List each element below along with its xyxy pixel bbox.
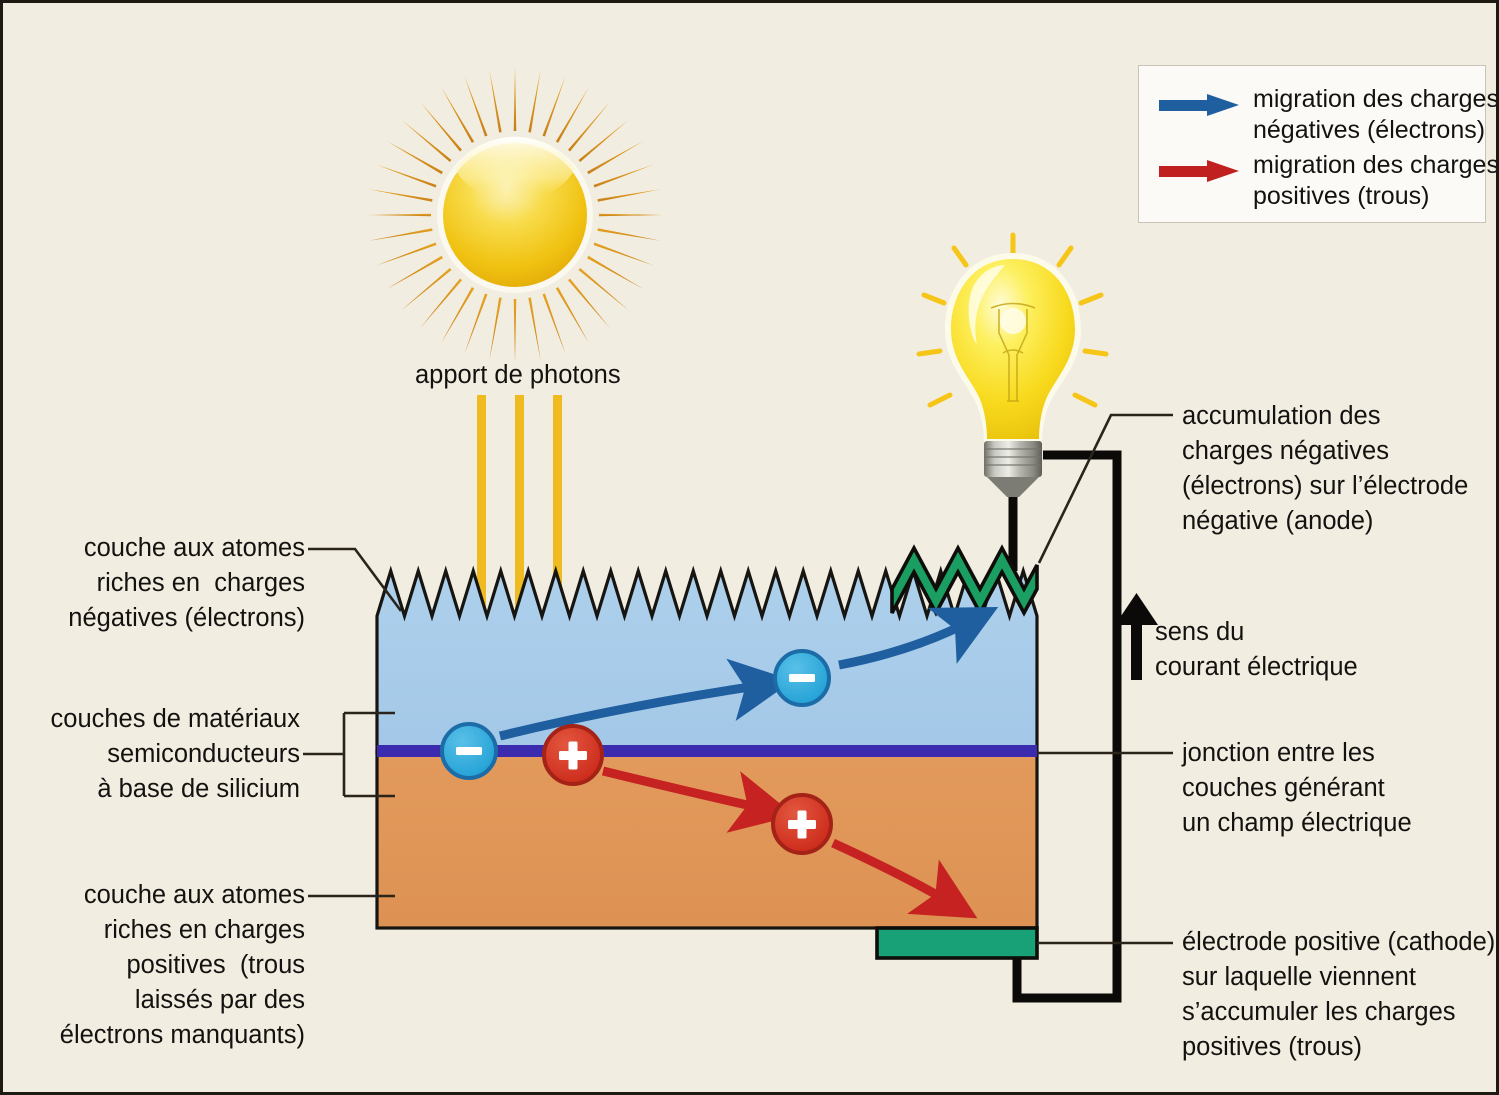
electron-2 xyxy=(775,651,829,705)
junction-label: jonction entre les couches générant un c… xyxy=(1182,736,1482,841)
solar-cell-diagram: migration des charges négatives (électro… xyxy=(0,0,1499,1095)
cathode-electrode xyxy=(877,928,1037,958)
hole-2 xyxy=(773,795,831,853)
electron-1 xyxy=(442,724,496,778)
legend-item-label: migration des charges positives (trous) xyxy=(1253,150,1499,212)
sun-icon xyxy=(367,67,663,363)
photons-label: apport de photons xyxy=(415,358,615,393)
current-direction-label: sens du courant électrique xyxy=(1155,615,1455,685)
semiconductor-layers-label: couches de matériaux semiconducteurs à b… xyxy=(33,702,300,807)
top-layer-label: couche aux atomes riches en charges néga… xyxy=(33,531,305,636)
legend-item-0: migration des charges négatives (électro… xyxy=(1159,88,1499,146)
red-right-arrow-icon xyxy=(1159,158,1241,184)
cathode-label: électrode positive (cathode) sur laquell… xyxy=(1182,925,1492,1065)
blue-right-arrow-icon xyxy=(1159,92,1241,118)
legend-item-1: migration des charges positives (trous) xyxy=(1159,154,1499,212)
legend-item-label: migration des charges négatives (électro… xyxy=(1253,84,1499,146)
legend: migration des charges négatives (électro… xyxy=(1138,65,1486,223)
bottom-layer-label: couche aux atomes riches en charges posi… xyxy=(33,878,305,1053)
hole-1 xyxy=(544,726,602,784)
anode-label: accumulation des charges négatives (élec… xyxy=(1182,399,1482,539)
